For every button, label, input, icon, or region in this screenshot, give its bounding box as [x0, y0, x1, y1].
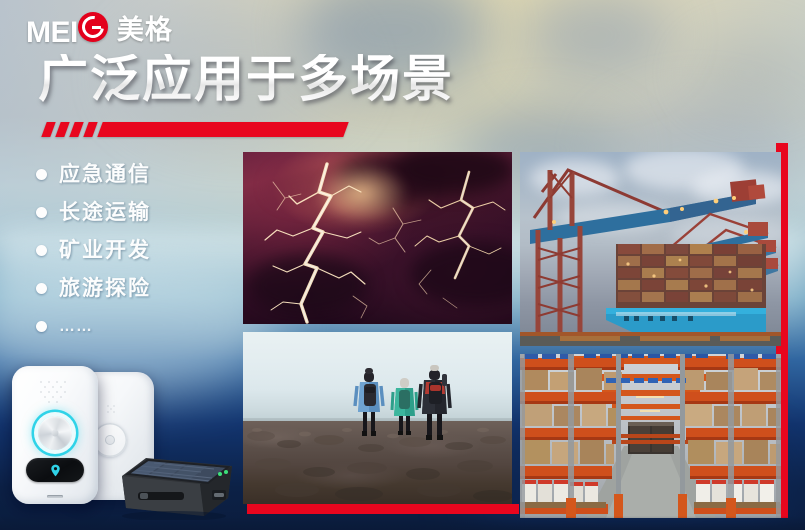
gallery-photo-hikers[interactable]: [243, 332, 512, 504]
list-item-label: 长途运输: [59, 202, 151, 223]
page-title: 广泛应用于多场景: [38, 54, 454, 104]
list-item-label: ……: [59, 318, 93, 338]
hiker-blue: [355, 368, 383, 436]
device-screen: [26, 458, 84, 482]
gallery-photo-storm[interactable]: [243, 152, 512, 324]
accent-dash: [69, 122, 83, 137]
device-sat-communicator-front[interactable]: [12, 366, 98, 504]
speaker-grille-icon: [106, 404, 118, 416]
hiker-green: [392, 378, 417, 435]
warehouse-rack-icon: [520, 354, 781, 518]
logo-chinese-name: 美格: [117, 17, 173, 44]
list-item-label: 旅游探险: [59, 278, 151, 299]
location-pin-icon: [50, 464, 61, 477]
device-solar-tracker[interactable]: [108, 436, 238, 520]
list-item: 应急通信: [36, 162, 151, 186]
gantry-crane-icon: [520, 152, 781, 346]
accent-long-bar: [97, 122, 348, 137]
hiker-red: [419, 365, 450, 440]
list-item: 旅游探险: [36, 276, 151, 300]
dot-bullet-icon: [36, 283, 47, 294]
list-item: 长途运输: [36, 200, 151, 224]
list-item-label: 应急通信: [59, 164, 151, 185]
dot-bullet-icon: [36, 207, 47, 218]
hikers-icon: [243, 332, 512, 504]
bottom-band: [0, 516, 805, 530]
dot-bullet-icon: [36, 169, 47, 180]
accent-bar: [44, 122, 360, 137]
dot-bullet-icon: [36, 321, 47, 332]
list-item: ……: [36, 314, 151, 338]
sos-button[interactable]: [38, 416, 72, 450]
product-devices: [8, 358, 238, 523]
gallery-photo-port[interactable]: [520, 152, 781, 346]
scenario-gallery: [243, 152, 781, 518]
meig-g-circle-icon: [78, 12, 108, 42]
usb-port-icon: [47, 495, 63, 498]
gallery-photo-warehouse[interactable]: [520, 354, 781, 518]
scenario-list: 应急通信 长途运输 矿业开发 旅游探险 ……: [36, 162, 151, 338]
list-item-label: 矿业开发: [59, 240, 151, 261]
speaker-grille-icon: [38, 379, 72, 405]
logo-latin-prefix: MEI: [26, 18, 78, 48]
dot-bullet-icon: [36, 245, 47, 256]
brand-logo[interactable]: MEI 美格: [26, 13, 173, 47]
accent-dash: [55, 122, 69, 137]
accent-dash: [41, 122, 55, 137]
list-item: 矿业开发: [36, 238, 151, 262]
poster-canvas: MEI 美格 广泛应用于多场景 应急通信 长途运输 矿业开发 旅游探险: [0, 0, 805, 530]
lightning-bolt-icon: [243, 152, 512, 324]
gallery-red-horizontal-bar: [247, 504, 519, 514]
accent-dash: [83, 122, 97, 137]
logo-wordmark: MEI: [26, 12, 108, 48]
